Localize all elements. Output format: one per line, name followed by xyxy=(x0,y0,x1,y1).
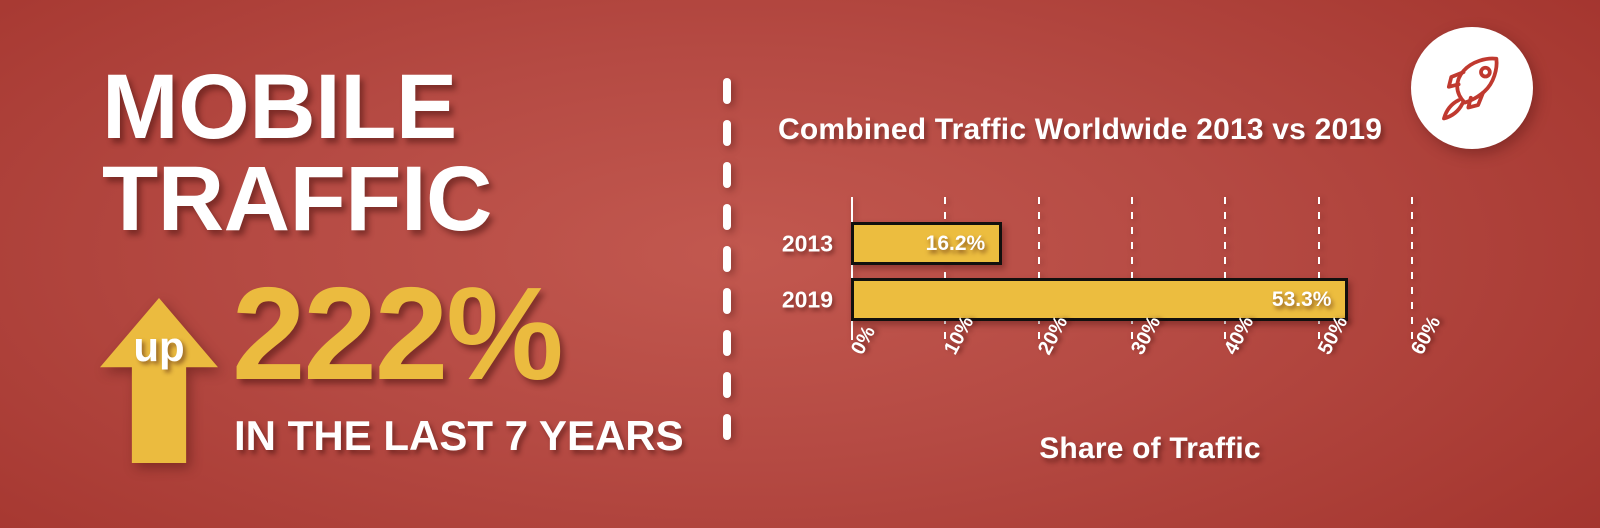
bar-value-label-2013: 16.2% xyxy=(926,232,986,256)
chart-bar-row: 201316.2% xyxy=(851,222,1411,265)
chart-title: Combined Traffic Worldwide 2013 vs 2019 xyxy=(778,113,1382,147)
chart-bar-row: 201953.3% xyxy=(851,278,1411,321)
up-arrow-icon: up xyxy=(100,298,218,463)
chart-plot-area: 201316.2%201953.3% xyxy=(851,197,1411,340)
chart-gridline xyxy=(1411,197,1413,340)
logo-badge xyxy=(1411,27,1533,149)
left-stat-panel: MOBILE TRAFFIC up 222% IN THE LAST 7 YEA… xyxy=(0,0,700,528)
chart-bar-2013[interactable]: 16.2% xyxy=(851,222,1002,265)
chart-bar-2019[interactable]: 53.3% xyxy=(851,278,1348,321)
bar-category-label-2019: 2019 xyxy=(782,286,833,313)
x-axis-title: Share of Traffic xyxy=(700,432,1600,466)
big-stat-subline: IN THE LAST 7 YEARS xyxy=(234,415,684,457)
bar-value-label-2019: 53.3% xyxy=(1272,288,1332,312)
big-stat-value: 222% xyxy=(232,268,562,400)
infographic-canvas: MOBILE TRAFFIC up 222% IN THE LAST 7 YEA… xyxy=(0,0,1600,528)
headline-line-1: MOBILE xyxy=(102,63,457,151)
bar-category-label-2013: 2013 xyxy=(782,230,833,257)
headline-line-2: TRAFFIC xyxy=(102,155,492,243)
up-arrow-label: up xyxy=(100,326,218,368)
rocket-icon xyxy=(1433,49,1511,127)
